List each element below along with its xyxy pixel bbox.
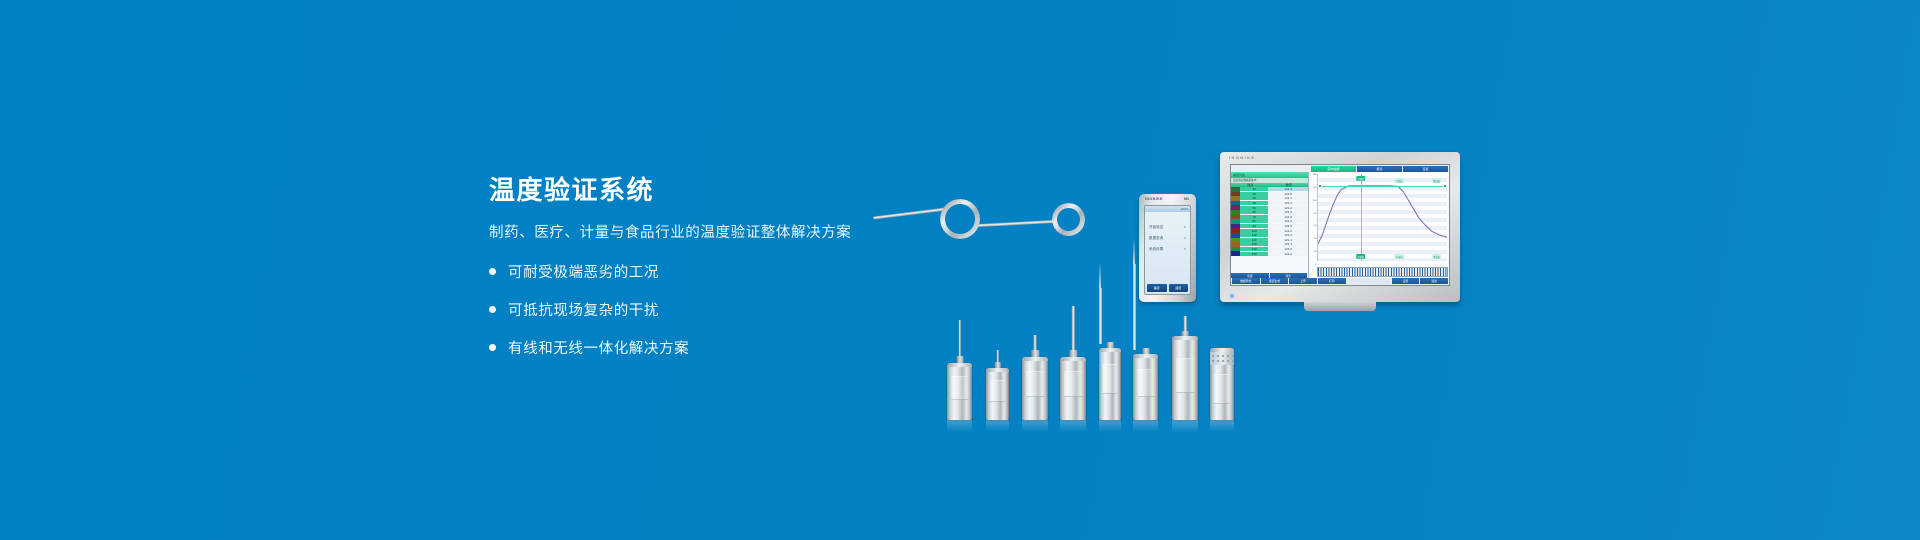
table-row[interactable]: 5#121.2 xyxy=(1231,205,1308,210)
cursor-tag-top: 灭菌段 xyxy=(1356,176,1366,181)
handheld-terminal[interactable]: INONIKE M1 100% 开始验证 > 数据查询 > 系统设置 > xyxy=(1139,194,1196,302)
print-button[interactable]: 打印 xyxy=(1318,278,1346,284)
probe-needle-icon xyxy=(1099,288,1102,344)
toolbar-gap xyxy=(1347,278,1391,284)
channel-value-cell: 121.3 xyxy=(1268,187,1308,191)
annotation-left: 升温段 xyxy=(1394,178,1404,183)
list-item xyxy=(947,350,972,420)
time-scrollbar[interactable] xyxy=(1317,267,1448,277)
cursor-tag-bottom: 灭菌段 xyxy=(1356,254,1366,259)
probe-reflection xyxy=(1210,420,1234,432)
chevron-right-icon: > xyxy=(1184,225,1186,229)
table-row[interactable]: 10#121.2 xyxy=(1231,228,1308,233)
handheld-brand: INONIKE xyxy=(1145,197,1163,201)
feature-label: 有线和无线一体化解决方案 xyxy=(508,337,689,358)
table-row[interactable]: 15#121.2 xyxy=(1231,251,1308,256)
channel-value-cell: 121.1 xyxy=(1268,196,1308,200)
channel-value-cell: 121.3 xyxy=(1268,219,1308,223)
channel-value-cell: 121.4 xyxy=(1268,201,1308,205)
probe-label xyxy=(1064,371,1082,397)
handheld-menu-item[interactable]: 数据查询 > xyxy=(1149,235,1186,240)
monitor-stand xyxy=(1304,302,1376,311)
list-item xyxy=(1172,324,1198,420)
handheld-menu: 开始验证 > 数据查询 > 系统设置 > xyxy=(1145,212,1190,284)
channel-value-cell: 121.5 xyxy=(1268,224,1308,228)
probe-coil-icon xyxy=(940,199,980,239)
table-row[interactable]: 8#121.3 xyxy=(1231,219,1308,224)
channel-id-cell: 12# xyxy=(1240,238,1268,242)
channel-value-cell: 121.1 xyxy=(1268,238,1308,242)
probe-stem-icon xyxy=(958,320,961,358)
probe-needle-icon xyxy=(1133,264,1136,350)
hero-banner: 温度验证系统 制药、医疗、计量与食品行业的温度验证整体解决方案 可耐受极端恶劣的… xyxy=(0,0,1920,540)
probe-label xyxy=(990,380,1006,402)
probe-body xyxy=(1099,348,1121,420)
channel-value-cell: 121.0 xyxy=(1268,215,1308,219)
plot-area: 灭菌段 灭菌段 升温段 降温段 升温段 降温段 xyxy=(1317,174,1447,261)
channel-value-cell: 121.6 xyxy=(1268,247,1308,251)
table-row[interactable]: 9#121.5 xyxy=(1231,224,1308,229)
software-body: 通道列表 温度验证数据采集中 通道 数值 1#121.32#121.53#121… xyxy=(1231,172,1449,278)
channel-id-cell: 3# xyxy=(1240,196,1268,200)
channel-id-cell: 1# xyxy=(1240,187,1268,191)
handheld-screen: 100% 开始验证 > 数据查询 > 系统设置 > 确定 返回 xyxy=(1144,205,1191,295)
channel-value-cell: 121.5 xyxy=(1268,192,1308,196)
probe-reflection xyxy=(986,420,1009,431)
probe-body xyxy=(1172,336,1198,420)
temperature-chart: 140120100806040200 灭菌段 xyxy=(1310,173,1448,267)
probe-stem-icon xyxy=(1072,306,1075,352)
upload-button[interactable]: 上传 xyxy=(1289,278,1317,284)
channel-value-cell: 121.3 xyxy=(1268,242,1308,246)
chart-pane: 140120100806040200 灭菌段 xyxy=(1309,172,1449,278)
list-item xyxy=(986,358,1009,420)
feature-label: 可抵抗现场复杂的干扰 xyxy=(508,299,659,320)
probe-stem-icon xyxy=(1184,316,1187,332)
confirm-button[interactable]: 确定 xyxy=(1147,284,1167,292)
probe-reflection xyxy=(1133,420,1158,432)
probe-body xyxy=(1133,354,1158,420)
annotation-right: 降温段 xyxy=(1432,178,1442,183)
channel-id-cell: 14# xyxy=(1240,247,1268,251)
probe-reflection xyxy=(1172,420,1198,433)
y-axis-tick: 0 xyxy=(1315,264,1317,266)
table-row[interactable]: 14#121.6 xyxy=(1231,247,1308,252)
channel-table: 通道列表 温度验证数据采集中 通道 数值 1#121.32#121.53#121… xyxy=(1231,172,1309,278)
probe-label xyxy=(1026,371,1044,397)
handheld-model: M1 xyxy=(1184,197,1189,201)
toolbar: 数据导出 报表生成 上传 打印 设置 退出 xyxy=(1231,278,1449,285)
channel-id-cell: 11# xyxy=(1240,233,1268,237)
temperature-curve xyxy=(1318,174,1447,261)
settings-button[interactable]: 设置 xyxy=(1392,278,1420,284)
feature-label: 可耐受极端恶劣的工况 xyxy=(508,261,659,282)
channel-id-cell: 5# xyxy=(1240,206,1268,210)
table-row[interactable]: 7#121.0 xyxy=(1231,215,1308,220)
limit-handle-right[interactable] xyxy=(1443,184,1447,188)
channel-id-cell: 13# xyxy=(1240,242,1268,246)
channel-color-swatch xyxy=(1231,251,1240,256)
probe-label xyxy=(1176,358,1194,393)
table-row[interactable]: 11#121.4 xyxy=(1231,233,1308,238)
probe-label xyxy=(1103,364,1118,394)
table-row[interactable]: 13#121.3 xyxy=(1231,242,1308,247)
channel-id-cell: 7# xyxy=(1240,215,1268,219)
probe-reflection xyxy=(947,420,972,432)
probe-label xyxy=(1214,374,1230,404)
list-item xyxy=(1133,342,1158,420)
probe-label xyxy=(951,376,968,400)
handheld-softkey-bar: 确定 返回 xyxy=(1145,284,1190,294)
monitor-brand: INONIKE xyxy=(1229,155,1255,160)
table-row[interactable]: 12#121.1 xyxy=(1231,238,1308,243)
limit-handle-left[interactable] xyxy=(1318,184,1322,188)
bullet-dot-icon xyxy=(489,306,496,313)
tab-bar: 实时曲线 报表 设置 xyxy=(1231,165,1449,172)
bullet-dot-icon xyxy=(489,344,496,351)
power-led-icon xyxy=(1230,294,1234,298)
list-item xyxy=(1022,344,1048,420)
probe-body xyxy=(1060,357,1086,420)
handheld-menu-item[interactable]: 开始验证 > xyxy=(1149,224,1186,229)
channel-value-cell: 121.2 xyxy=(1268,206,1308,210)
cursor-line[interactable] xyxy=(1361,174,1362,261)
channel-id-cell: 8# xyxy=(1240,219,1268,223)
handheld-menu-item[interactable]: 系统设置 > xyxy=(1149,246,1186,251)
annotation-left-bottom: 升温段 xyxy=(1394,254,1404,259)
export-data-button[interactable]: 数据导出 xyxy=(1232,278,1260,284)
probe-wire-icon xyxy=(978,220,1056,227)
battery-status: 100% xyxy=(1180,207,1188,211)
list-item xyxy=(1060,344,1086,420)
monitor-display: INONIKE 实时曲线 报表 设置 通道列表 温度验证数据采集中 xyxy=(1220,152,1460,302)
table-rows: 1#121.32#121.53#121.14#121.45#121.26#121… xyxy=(1231,187,1308,273)
probe-mesh-filter-icon xyxy=(1210,348,1234,365)
channel-value-cell: 121.4 xyxy=(1268,233,1308,237)
channel-id-cell: 10# xyxy=(1240,229,1268,233)
table-row[interactable]: 3#121.1 xyxy=(1231,196,1308,201)
table-row[interactable]: 4#121.4 xyxy=(1231,201,1308,206)
menu-item-label: 数据查询 xyxy=(1149,235,1163,240)
generate-report-button[interactable]: 报表生成 xyxy=(1261,278,1289,284)
channel-id-cell: 2# xyxy=(1240,192,1268,196)
menu-item-label: 系统设置 xyxy=(1149,246,1163,251)
exit-button[interactable]: 退出 xyxy=(1420,278,1448,284)
channel-id-cell: 15# xyxy=(1240,252,1268,256)
y-axis: 140120100806040200 xyxy=(1310,173,1317,267)
channel-value-cell: 121.2 xyxy=(1268,229,1308,233)
probe-body xyxy=(986,368,1009,420)
chevron-right-icon: > xyxy=(1184,247,1186,251)
table-title-label: 通道列表 xyxy=(1233,173,1245,177)
table-row[interactable]: 1#121.3 xyxy=(1231,187,1308,192)
probe-reflection xyxy=(1060,420,1086,432)
channel-id-cell: 6# xyxy=(1240,210,1268,214)
table-row[interactable]: 2#121.5 xyxy=(1231,192,1308,197)
monitor-bezel: INONIKE 实时曲线 报表 设置 通道列表 温度验证数据采集中 xyxy=(1220,152,1460,302)
back-button[interactable]: 返回 xyxy=(1169,284,1189,292)
table-row[interactable]: 6#121.6 xyxy=(1231,210,1308,215)
list-item xyxy=(1099,334,1121,420)
probe-reflection xyxy=(1099,420,1121,432)
probe-body xyxy=(947,363,972,420)
limit-line xyxy=(1318,186,1447,187)
list-item xyxy=(1210,348,1234,420)
bullet-dot-icon xyxy=(489,268,496,275)
channel-id-cell: 4# xyxy=(1240,201,1268,205)
probe-label xyxy=(1137,369,1154,397)
chevron-right-icon: > xyxy=(1184,236,1186,240)
channel-id-cell: 9# xyxy=(1240,224,1268,228)
channel-value-cell: 121.2 xyxy=(1268,252,1308,256)
software-window: 实时曲线 报表 设置 通道列表 温度验证数据采集中 通道 数值 xyxy=(1230,164,1450,286)
probe-coil-icon xyxy=(1052,203,1085,236)
probe-body xyxy=(1210,348,1234,420)
menu-item-label: 开始验证 xyxy=(1149,224,1163,229)
annotation-right-bottom: 降温段 xyxy=(1432,254,1442,259)
probe-reflection xyxy=(1022,420,1048,432)
channel-value-cell: 121.6 xyxy=(1268,210,1308,214)
probe-body xyxy=(1022,357,1048,420)
